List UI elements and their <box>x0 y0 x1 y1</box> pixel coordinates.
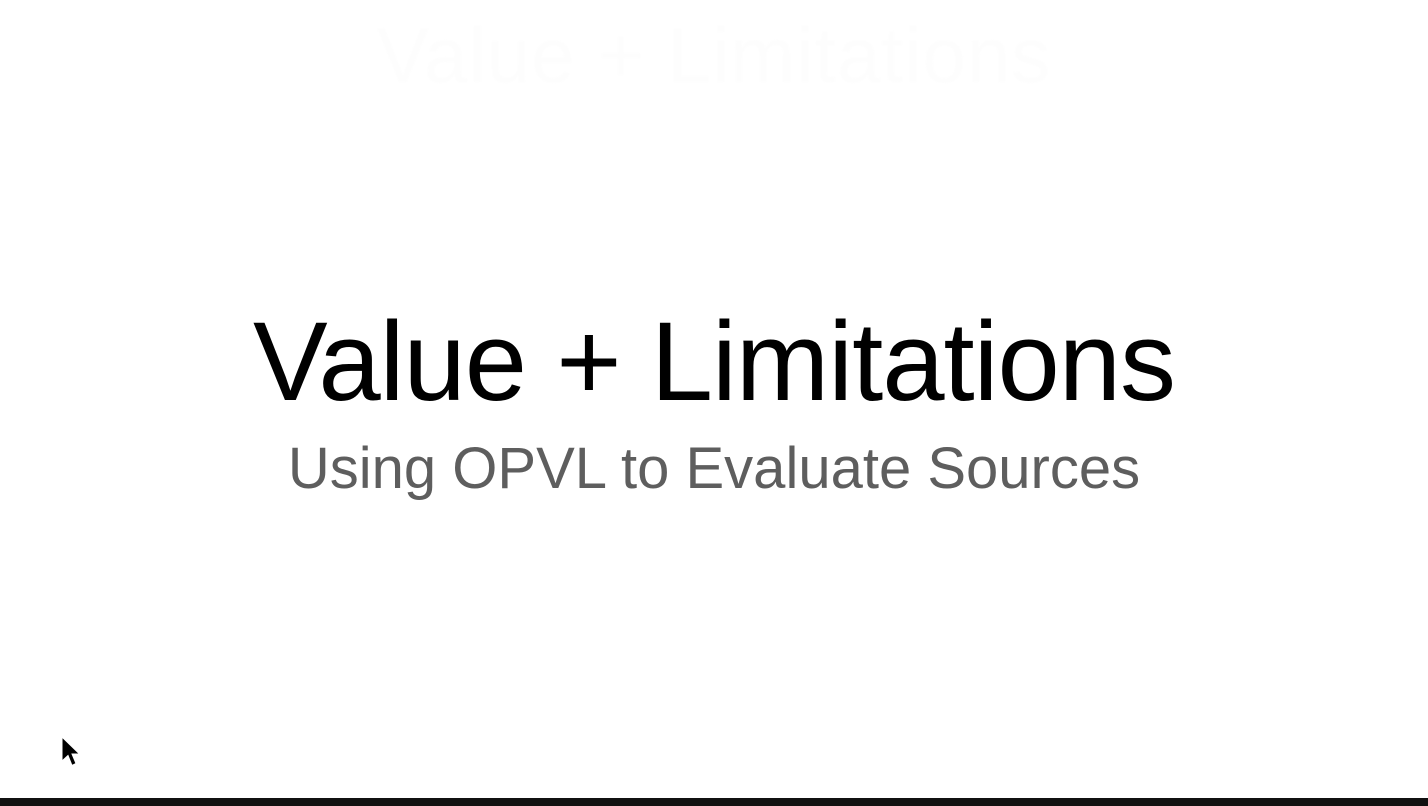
slide-title: Value + Limitations <box>253 305 1175 419</box>
bottom-edge-bar <box>0 798 1428 806</box>
presentation-slide: Value + Limitations Value + Limitations … <box>0 0 1428 806</box>
slide-subtitle: Using OPVL to Evaluate Sources <box>288 437 1140 501</box>
slide-content-block: Value + Limitations Using OPVL to Evalua… <box>0 0 1428 806</box>
